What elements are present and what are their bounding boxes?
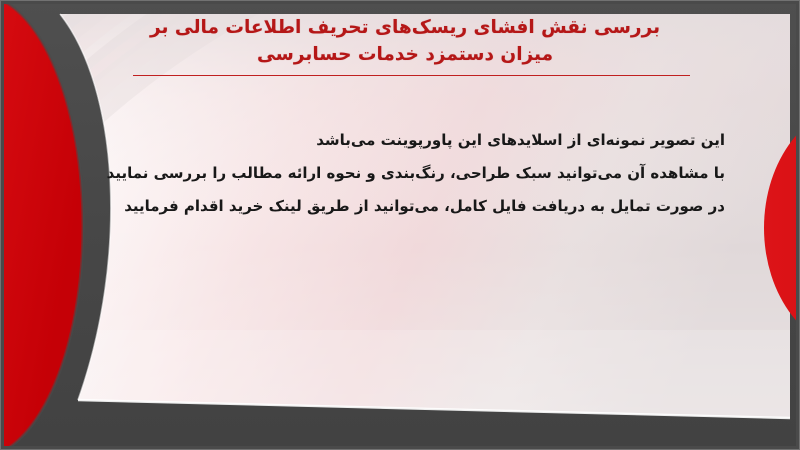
presentation-slide: بررسی نقش افشای ریسک‌های تحریف اطلاعات م… [0,0,800,450]
slide-title-line-2: میزان دستمزد خدمات حسابرسی [110,41,700,68]
slide-title: بررسی نقش افشای ریسک‌های تحریف اطلاعات م… [110,14,700,68]
body-line-3: در صورت تمایل به دریافت فایل کامل، می‌تو… [100,190,725,223]
body-line-2: با مشاهده آن می‌توانید سبک طراحی، رنگ‌بن… [100,157,725,190]
slide-body-text: این تصویر نمونه‌ای از اسلایدهای این پاور… [100,124,725,223]
slide-title-line-1: بررسی نقش افشای ریسک‌های تحریف اطلاعات م… [110,14,700,41]
left-red-ellipse-shape [0,0,83,450]
body-line-1: این تصویر نمونه‌ای از اسلایدهای این پاور… [100,124,725,157]
title-underline-rule [133,75,690,76]
